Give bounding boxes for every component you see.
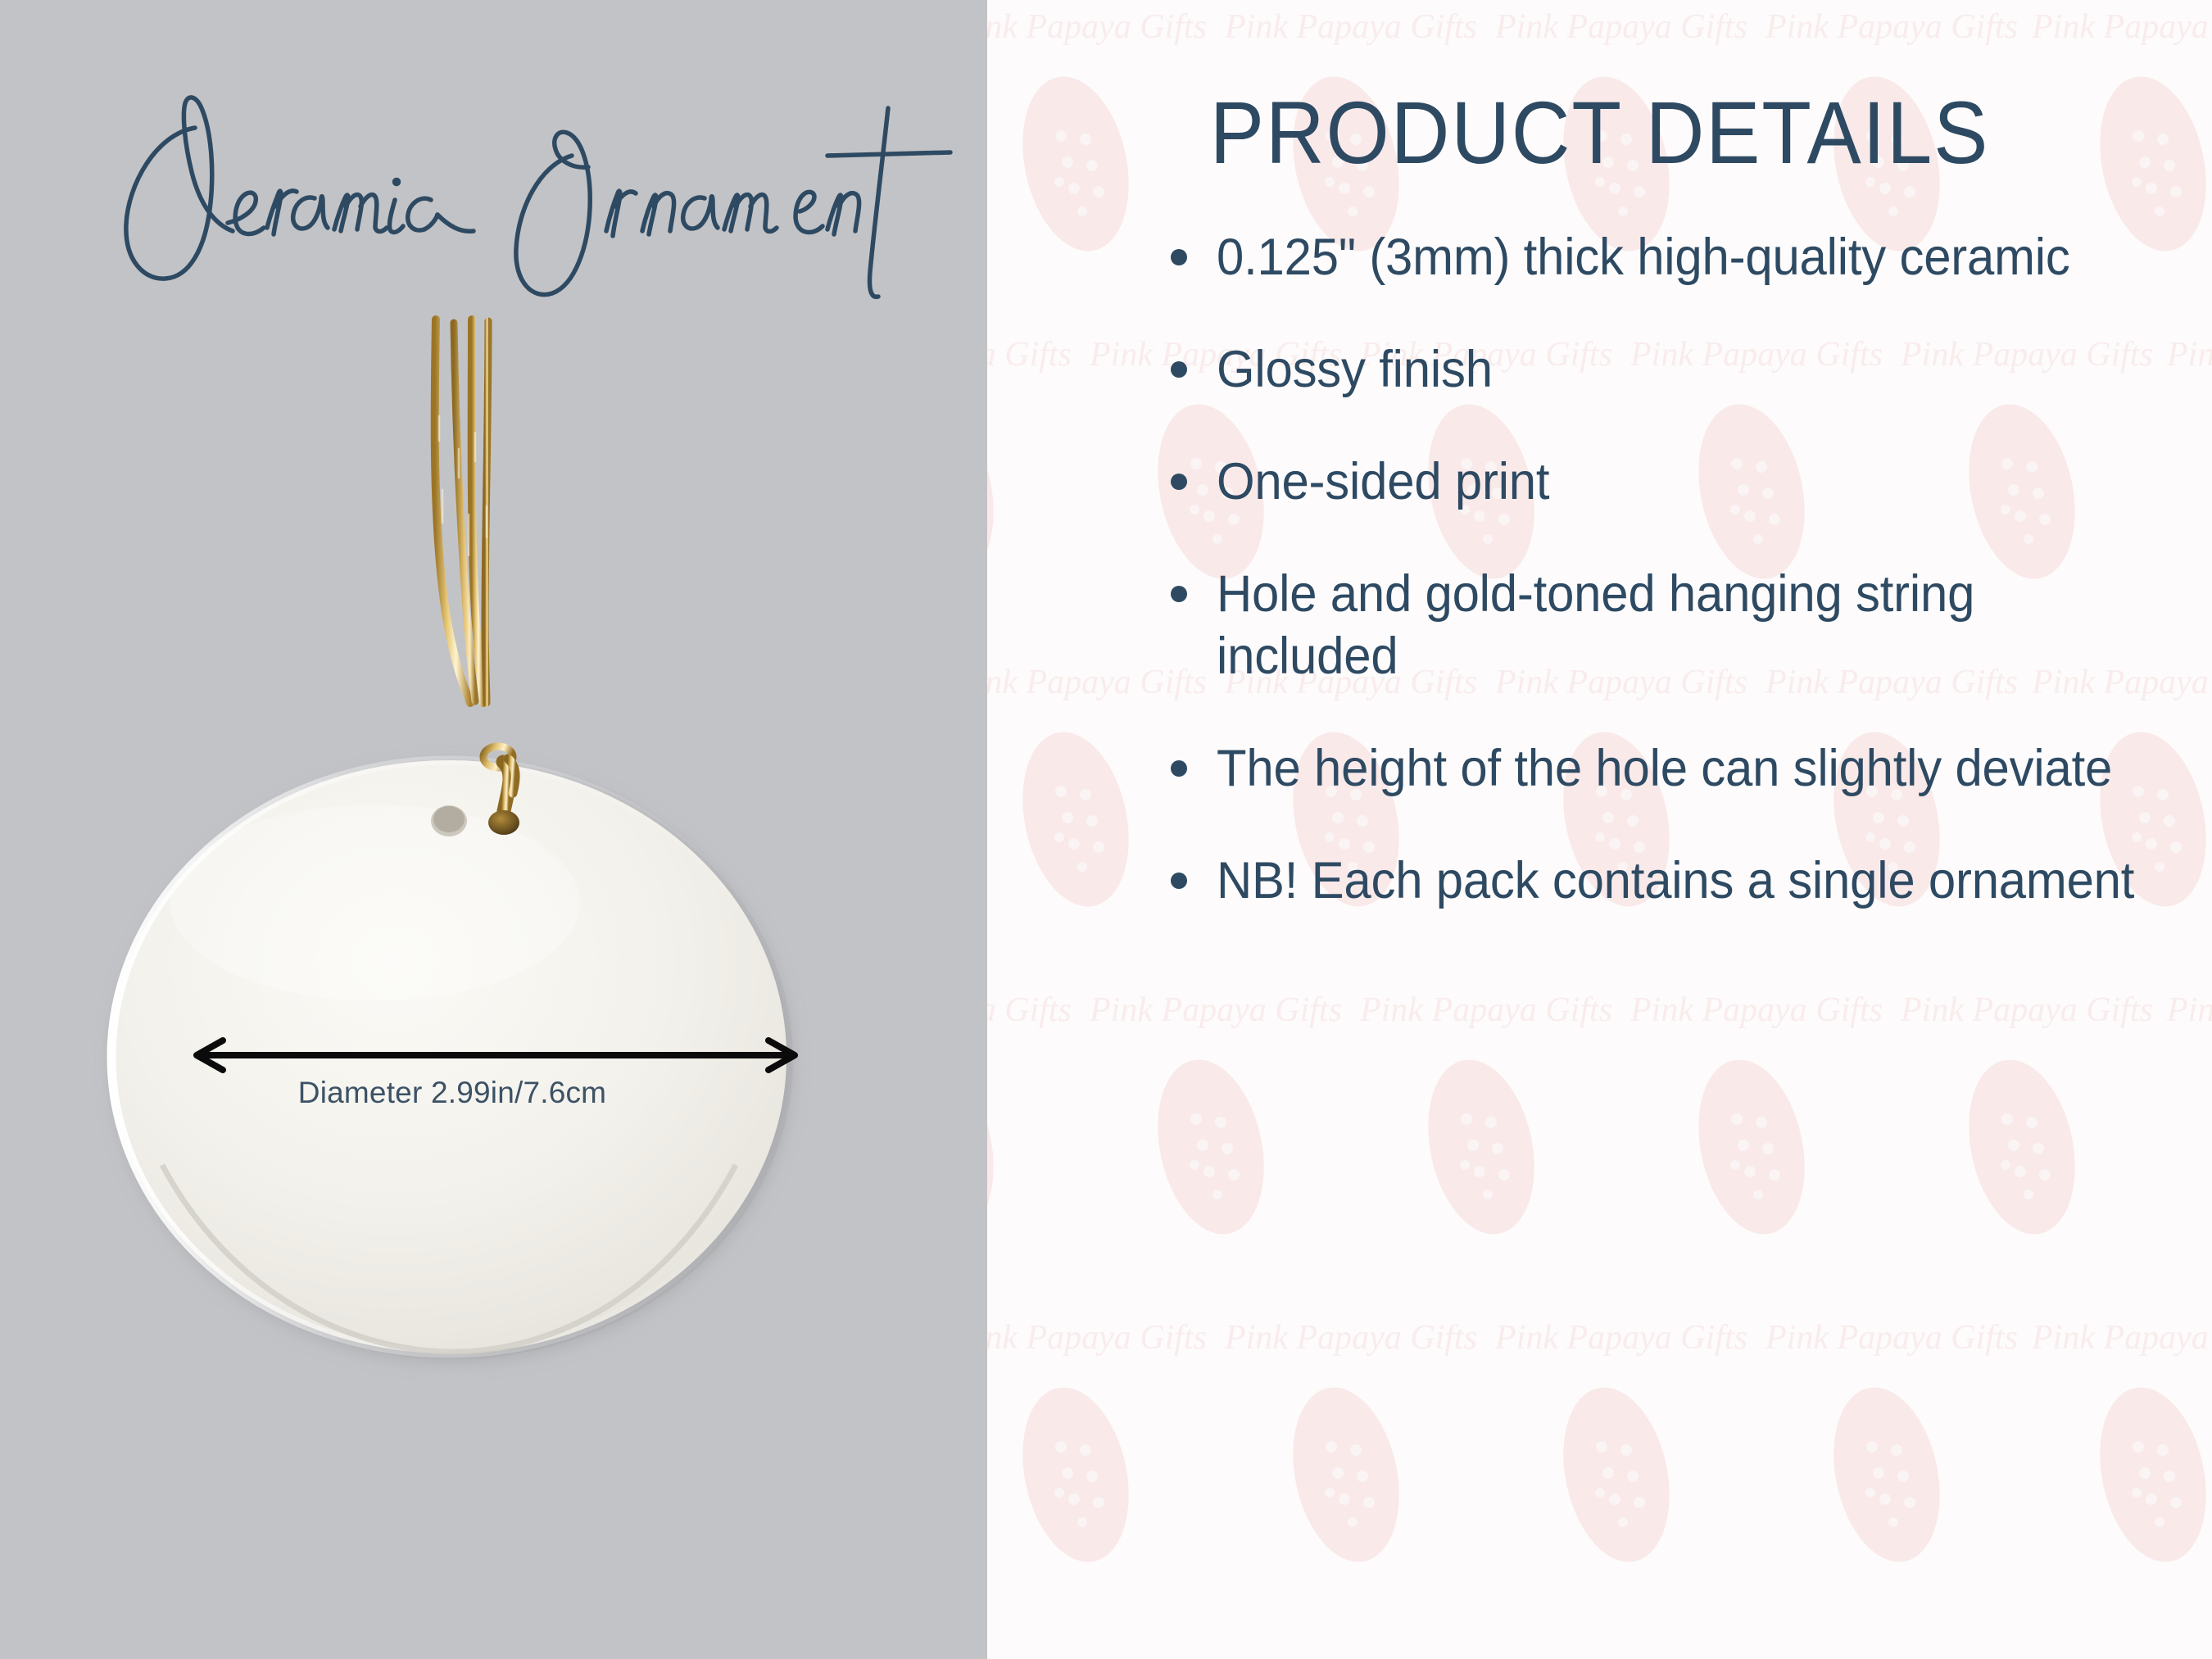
list-item: 0.125" (3mm) thick high-quality ceramic: [1171, 226, 2195, 289]
list-item-label: Hole and gold-toned hanging string inclu…: [1217, 563, 2146, 689]
watermark-tile: Pink Papaya Gifts: [1749, 1286, 2019, 1614]
watermark-tile: Pink Papaya Gifts: [1614, 959, 1884, 1286]
svg-text:Pink Papaya Gifts: Pink Papaya Gifts: [1630, 991, 1883, 1029]
svg-text:Pink Papaya Gifts: Pink Papaya Gifts: [1900, 991, 2153, 1029]
watermark-tile: Pink Papaya Gifts: [987, 303, 1073, 631]
svg-text:Pink Papaya Gifts: Pink Papaya Gifts: [987, 8, 1207, 46]
svg-text:Pink Papaya Gifts: Pink Papaya Gifts: [1765, 8, 2018, 46]
svg-text:Pink Papaya Gifts: Pink Papaya Gifts: [1494, 1319, 1747, 1357]
watermark-tile: Pink Papaya Gifts: [1073, 959, 1344, 1286]
svg-text:Pink Papaya Gifts: Pink Papaya Gifts: [987, 1319, 1207, 1357]
svg-text:Pink Papaya Gifts: Pink Papaya Gifts: [1494, 8, 1747, 46]
gold-cord-knot: [459, 721, 557, 852]
watermark-tile: Pink Papaya Gifts: [1344, 959, 1614, 1286]
list-item: The height of the hole can slightly devi…: [1171, 737, 2195, 800]
list-item: One-sided print: [1171, 451, 2195, 514]
watermark-tile: Pink Papaya Gifts: [987, 1286, 1208, 1614]
bullet-dot-icon: [1171, 873, 1187, 889]
bullet-dot-icon: [1171, 760, 1187, 777]
list-item-label: The height of the hole can slightly devi…: [1217, 737, 2112, 800]
list-item-label: 0.125" (3mm) thick high-quality ceramic: [1217, 226, 2070, 289]
bullet-dot-icon: [1171, 249, 1187, 265]
svg-text:Pink Papaya Gifts: Pink Papaya Gifts: [2031, 8, 2212, 46]
watermark-tile: Pink Papaya Gifts: [1479, 1286, 1749, 1614]
watermark-tile: Pink Papaya Gifts: [2151, 959, 2212, 1286]
svg-text:Pink Papaya Gifts: Pink Papaya Gifts: [987, 336, 1072, 374]
svg-text:Pink Papaya Gifts: Pink Papaya Gifts: [1224, 8, 1477, 46]
svg-text:Pink Papaya Gifts: Pink Papaya Gifts: [1089, 991, 1342, 1029]
svg-text:Pink Papaya Gifts: Pink Papaya Gifts: [1224, 1319, 1477, 1357]
product-detail-graphic: Ceramic Ornament: [0, 0, 2212, 1659]
svg-text:Pink Papaya Gifts: Pink Papaya Gifts: [1765, 1319, 2018, 1357]
watermark-tile: Pink Papaya Gifts: [1208, 1286, 1479, 1614]
svg-text:Pink Papaya Gifts: Pink Papaya Gifts: [1359, 991, 1612, 1029]
list-item: NB! Each pack contains a single ornament: [1171, 850, 2195, 913]
svg-text:Pink Papaya Gifts: Pink Papaya Gifts: [2166, 991, 2212, 1029]
watermark-tile: Pink Papaya Gifts: [987, 959, 1073, 1286]
list-item-label: NB! Each pack contains a single ornament: [1217, 850, 2134, 913]
product-photo-panel: Ceramic Ornament: [0, 0, 987, 1659]
svg-text:Pink Papaya Gifts: Pink Papaya Gifts: [987, 991, 1072, 1029]
watermark-tile: Pink Papaya Gifts: [1884, 959, 2155, 1286]
watermark-tile: Pink Papaya Gifts: [2015, 1286, 2212, 1614]
list-item-label: One-sided print: [1217, 451, 1549, 514]
ornament-product-image: Diameter 2.99in/7.6cm: [0, 0, 987, 1659]
diameter-label: Diameter 2.99in/7.6cm: [105, 1076, 800, 1110]
page-title: PRODUCT DETAILS: [1036, 88, 2163, 177]
bullet-dot-icon: [1171, 474, 1187, 490]
product-details-panel: Pink Papaya Gifts Pink Papaya Gifts Pink…: [987, 0, 2212, 1659]
diameter-arrow: [180, 1034, 811, 1080]
list-item: Glossy finish: [1171, 338, 2195, 401]
product-details-list: 0.125" (3mm) thick high-quality ceramic …: [1171, 226, 2195, 913]
list-item: Hole and gold-toned hanging string inclu…: [1171, 563, 2195, 689]
svg-text:Pink Papaya Gifts: Pink Papaya Gifts: [2031, 1319, 2212, 1357]
bullet-dot-icon: [1171, 361, 1187, 378]
list-item-label: Glossy finish: [1217, 338, 1493, 401]
bullet-dot-icon: [1171, 586, 1187, 602]
